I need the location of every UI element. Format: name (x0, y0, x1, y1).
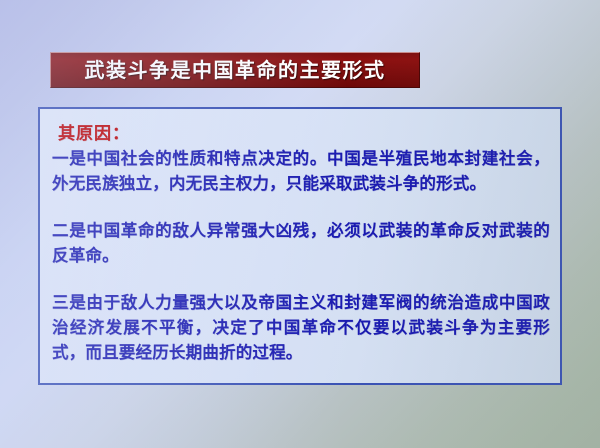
reason-paragraph-3: 三是由于敌人力量强大以及帝国主义和封建军阀的统治造成中国政治经济发展不平衡，决定… (52, 290, 550, 365)
page-title: 武装斗争是中国革命的主要形式 (85, 60, 386, 80)
reason-paragraph-2: 二是中国革命的敌人异常强大凶残，必须以武装的革命反对武装的反革命。 (52, 218, 550, 268)
content-panel: 其原因： 一是中国社会的性质和特点决定的。中国是半殖民地本封建社会，外无民族独立… (38, 107, 562, 385)
slide-canvas: 武装斗争是中国革命的主要形式 其原因： 一是中国社会的性质和特点决定的。中国是半… (0, 0, 600, 448)
reasons-heading: 其原因： (58, 119, 550, 144)
reason-paragraph-1: 一是中国社会的性质和特点决定的。中国是半殖民地本封建社会，外无民族独立，内无民主… (52, 146, 550, 196)
title-banner: 武装斗争是中国革命的主要形式 (50, 52, 420, 88)
